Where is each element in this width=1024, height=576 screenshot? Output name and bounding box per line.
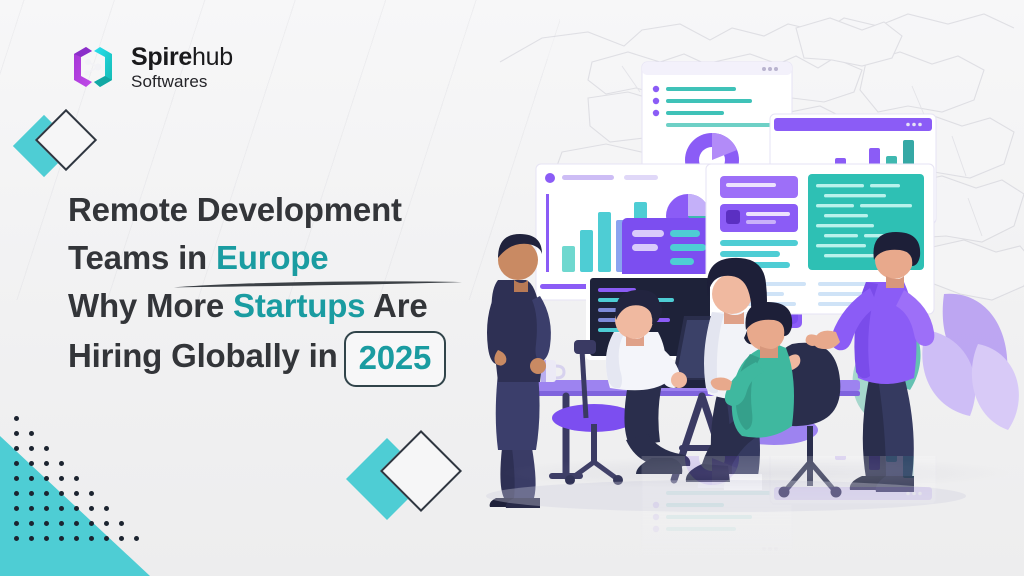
dot xyxy=(104,536,109,541)
dot xyxy=(14,476,19,481)
year-badge-2025: 2025 xyxy=(344,331,447,387)
dot xyxy=(29,461,34,466)
dot xyxy=(59,491,64,496)
dot xyxy=(59,506,64,511)
dot xyxy=(134,536,139,541)
headline-line-4-prefix: Hiring Globally in xyxy=(68,337,338,374)
underline-swoosh-icon xyxy=(172,280,464,289)
dot xyxy=(59,521,64,526)
dot xyxy=(29,506,34,511)
dot xyxy=(14,521,19,526)
dot xyxy=(44,446,49,451)
headline-line-3: Why More Startups Are xyxy=(68,282,498,330)
diamond-pair-decoration-top xyxy=(8,108,104,184)
brand-logo[interactable]: Spirehub Softwares xyxy=(66,40,233,94)
illustration-reflection xyxy=(474,456,1024,576)
brand-tagline: Softwares xyxy=(131,73,233,90)
dot xyxy=(14,491,19,496)
dot xyxy=(59,476,64,481)
dot xyxy=(44,491,49,496)
dot xyxy=(89,521,94,526)
dot xyxy=(44,521,49,526)
dot xyxy=(29,446,34,451)
headline-line-4: Hiring Globally in2025 xyxy=(68,331,498,387)
dot xyxy=(74,521,79,526)
dot xyxy=(29,521,34,526)
dot xyxy=(14,431,19,436)
dot xyxy=(74,536,79,541)
headline-line-1: Remote Development xyxy=(68,186,498,234)
dot xyxy=(29,491,34,496)
dot xyxy=(59,461,64,466)
headline-block: Remote Development Teams in Europe Why M… xyxy=(68,186,498,387)
dot xyxy=(14,536,19,541)
dot xyxy=(44,506,49,511)
dot xyxy=(29,536,34,541)
headline-line-2-prefix: Teams in xyxy=(68,239,216,276)
dot xyxy=(59,536,64,541)
headline-accent-startups: Startups xyxy=(233,287,365,324)
spirehub-hexagon-nodes-logo-icon xyxy=(66,40,120,94)
dot xyxy=(89,491,94,496)
dot xyxy=(14,461,19,466)
dot xyxy=(104,521,109,526)
dot xyxy=(44,461,49,466)
headline-line-3-prefix: Why More xyxy=(68,287,233,324)
headline-accent-europe: Europe xyxy=(216,239,328,276)
dot-grid-decoration xyxy=(14,416,174,556)
dot xyxy=(74,476,79,481)
dot xyxy=(44,536,49,541)
dot xyxy=(119,521,124,526)
dot xyxy=(14,446,19,451)
dot xyxy=(29,476,34,481)
dot xyxy=(104,506,109,511)
dot xyxy=(74,506,79,511)
dot xyxy=(89,506,94,511)
diamond-pair-decoration-bottom xyxy=(352,432,472,532)
dot xyxy=(119,536,124,541)
brand-name-strong: Spire xyxy=(131,43,192,71)
brand-name-light: hub xyxy=(192,43,233,71)
headline-line-2: Teams in Europe xyxy=(68,234,498,282)
dot xyxy=(74,491,79,496)
dot xyxy=(29,431,34,436)
dot xyxy=(89,536,94,541)
remote-team-working-illustration xyxy=(474,44,1024,514)
dot xyxy=(14,506,19,511)
headline-line-3-suffix: Are xyxy=(365,287,427,324)
brand-wordmark: Spirehub Softwares xyxy=(131,45,233,90)
dot xyxy=(14,416,19,421)
promo-banner: Spirehub Softwares Remote Development Te… xyxy=(0,0,1024,576)
dot xyxy=(44,476,49,481)
